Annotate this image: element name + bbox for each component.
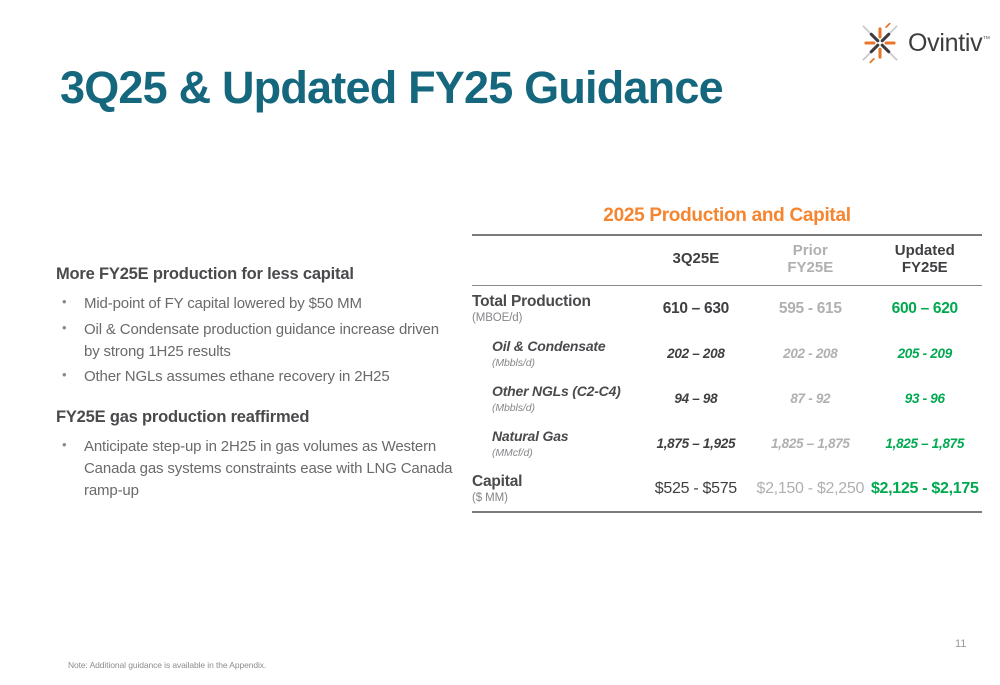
column-header-3q25e: 3Q25E [639,236,753,285]
row-label: Natural Gas [492,428,568,444]
content-block-production: More FY25E production for less capital •… [56,265,456,388]
row-label: Capital [472,473,522,490]
bullet-dot-icon: • [56,293,84,315]
table-row: Other NGLs (C2-C4) (Mbbls/d) 94 – 98 87 … [472,376,982,421]
cell-updated-fy25e: 205 - 209 [868,331,982,376]
row-label: Total Production [472,293,591,310]
row-unit: (MMcf/d) [492,447,639,459]
ovintiv-logo: Ovintiv™ [858,20,988,66]
column-header-top: Updated [868,243,982,260]
left-content-column: More FY25E production for less capital •… [56,265,456,521]
ovintiv-starburst-icon [858,21,902,65]
logo-wordmark-text: Ovintiv [908,29,982,57]
cell-updated-fy25e: 93 - 96 [868,376,982,421]
list-item: • Anticipate step-up in 2H25 in gas volu… [56,436,456,501]
page-title: 3Q25 & Updated FY25 Guidance [60,62,723,114]
row-unit: ($ MM) [472,492,639,504]
list-item-text: Mid-point of FY capital lowered by $50 M… [84,293,456,315]
table-row: Oil & Condensate (Mbbls/d) 202 – 208 202… [472,331,982,376]
cell-updated-fy25e: 600 – 620 [868,286,982,331]
table-row: Capital ($ MM) $525 - $575 $2,150 - $2,2… [472,466,982,511]
row-label-cell: Total Production (MBOE/d) [472,286,639,331]
cell-3q25e: 1,875 – 1,925 [639,421,753,466]
list-item-text: Other NGLs assumes ethane recovery in 2H… [84,366,456,388]
bullet-dot-icon: • [56,366,84,388]
cell-prior-fy25e: 595 - 615 [753,286,867,331]
row-label-cell: Capital ($ MM) [472,466,639,511]
guidance-table: 3Q25E Prior FY25E Updated FY25E [472,236,982,285]
page-number: 11 [955,638,966,650]
guidance-table-body: Total Production (MBOE/d) 610 – 630 595 … [472,286,982,511]
cell-3q25e: 610 – 630 [639,286,753,331]
cell-prior-fy25e: 202 - 208 [753,331,867,376]
cell-3q25e: 202 – 208 [639,331,753,376]
trademark-symbol: ™ [982,34,990,43]
cell-prior-fy25e: $2,150 - $2,250 [753,466,867,511]
row-label-cell: Oil & Condensate (Mbbls/d) [472,331,639,376]
cell-3q25e: 94 – 98 [639,376,753,421]
list-item: • Oil & Condensate production guidance i… [56,319,456,363]
list-item-text: Oil & Condensate production guidance inc… [84,319,456,363]
list-item: • Other NGLs assumes ethane recovery in … [56,366,456,388]
cell-3q25e: $525 - $575 [639,466,753,511]
block-heading: FY25E gas production reaffirmed [56,408,456,427]
column-header-bottom: FY25E [753,260,867,277]
column-header-updated-fy25e: Updated FY25E [868,236,982,285]
column-header-prior-fy25e: Prior FY25E [753,236,867,285]
footnote: Note: Additional guidance is available i… [68,660,266,670]
column-header-top: Prior [753,243,867,260]
column-header-bottom: FY25E [868,260,982,277]
row-label: Oil & Condensate [492,338,605,354]
table-header-row: 3Q25E Prior FY25E Updated FY25E [472,236,982,285]
guidance-table-panel: 2025 Production and Capital 3Q25E Prior … [472,205,982,513]
column-header-bottom: 3Q25E [639,251,753,268]
row-label-cell: Natural Gas (MMcf/d) [472,421,639,466]
row-unit: (MBOE/d) [472,312,639,324]
table-row: Natural Gas (MMcf/d) 1,875 – 1,925 1,825… [472,421,982,466]
row-unit: (Mbbls/d) [492,357,639,369]
cell-prior-fy25e: 87 - 92 [753,376,867,421]
row-label: Other NGLs (C2-C4) [492,383,621,399]
cell-updated-fy25e: 1,825 – 1,875 [868,421,982,466]
cell-prior-fy25e: 1,825 – 1,875 [753,421,867,466]
row-unit: (Mbbls/d) [492,402,639,414]
list-item: • Mid-point of FY capital lowered by $50… [56,293,456,315]
bullet-dot-icon: • [56,319,84,363]
list-item-text: Anticipate step-up in 2H25 in gas volume… [84,436,456,501]
logo-wordmark: Ovintiv™ [908,29,990,58]
row-label-cell: Other NGLs (C2-C4) (Mbbls/d) [472,376,639,421]
table-rule-bottom [472,511,982,513]
content-block-gas: FY25E gas production reaffirmed • Antici… [56,408,456,501]
slide-canvas: Ovintiv™ 3Q25 & Updated FY25 Guidance Mo… [0,0,1000,685]
block-heading: More FY25E production for less capital [56,265,456,284]
table-title: 2025 Production and Capital [472,205,982,227]
cell-updated-fy25e: $2,125 - $2,175 [868,466,982,511]
bullet-dot-icon: • [56,436,84,501]
table-header-blank [472,236,639,285]
table-row: Total Production (MBOE/d) 610 – 630 595 … [472,286,982,331]
